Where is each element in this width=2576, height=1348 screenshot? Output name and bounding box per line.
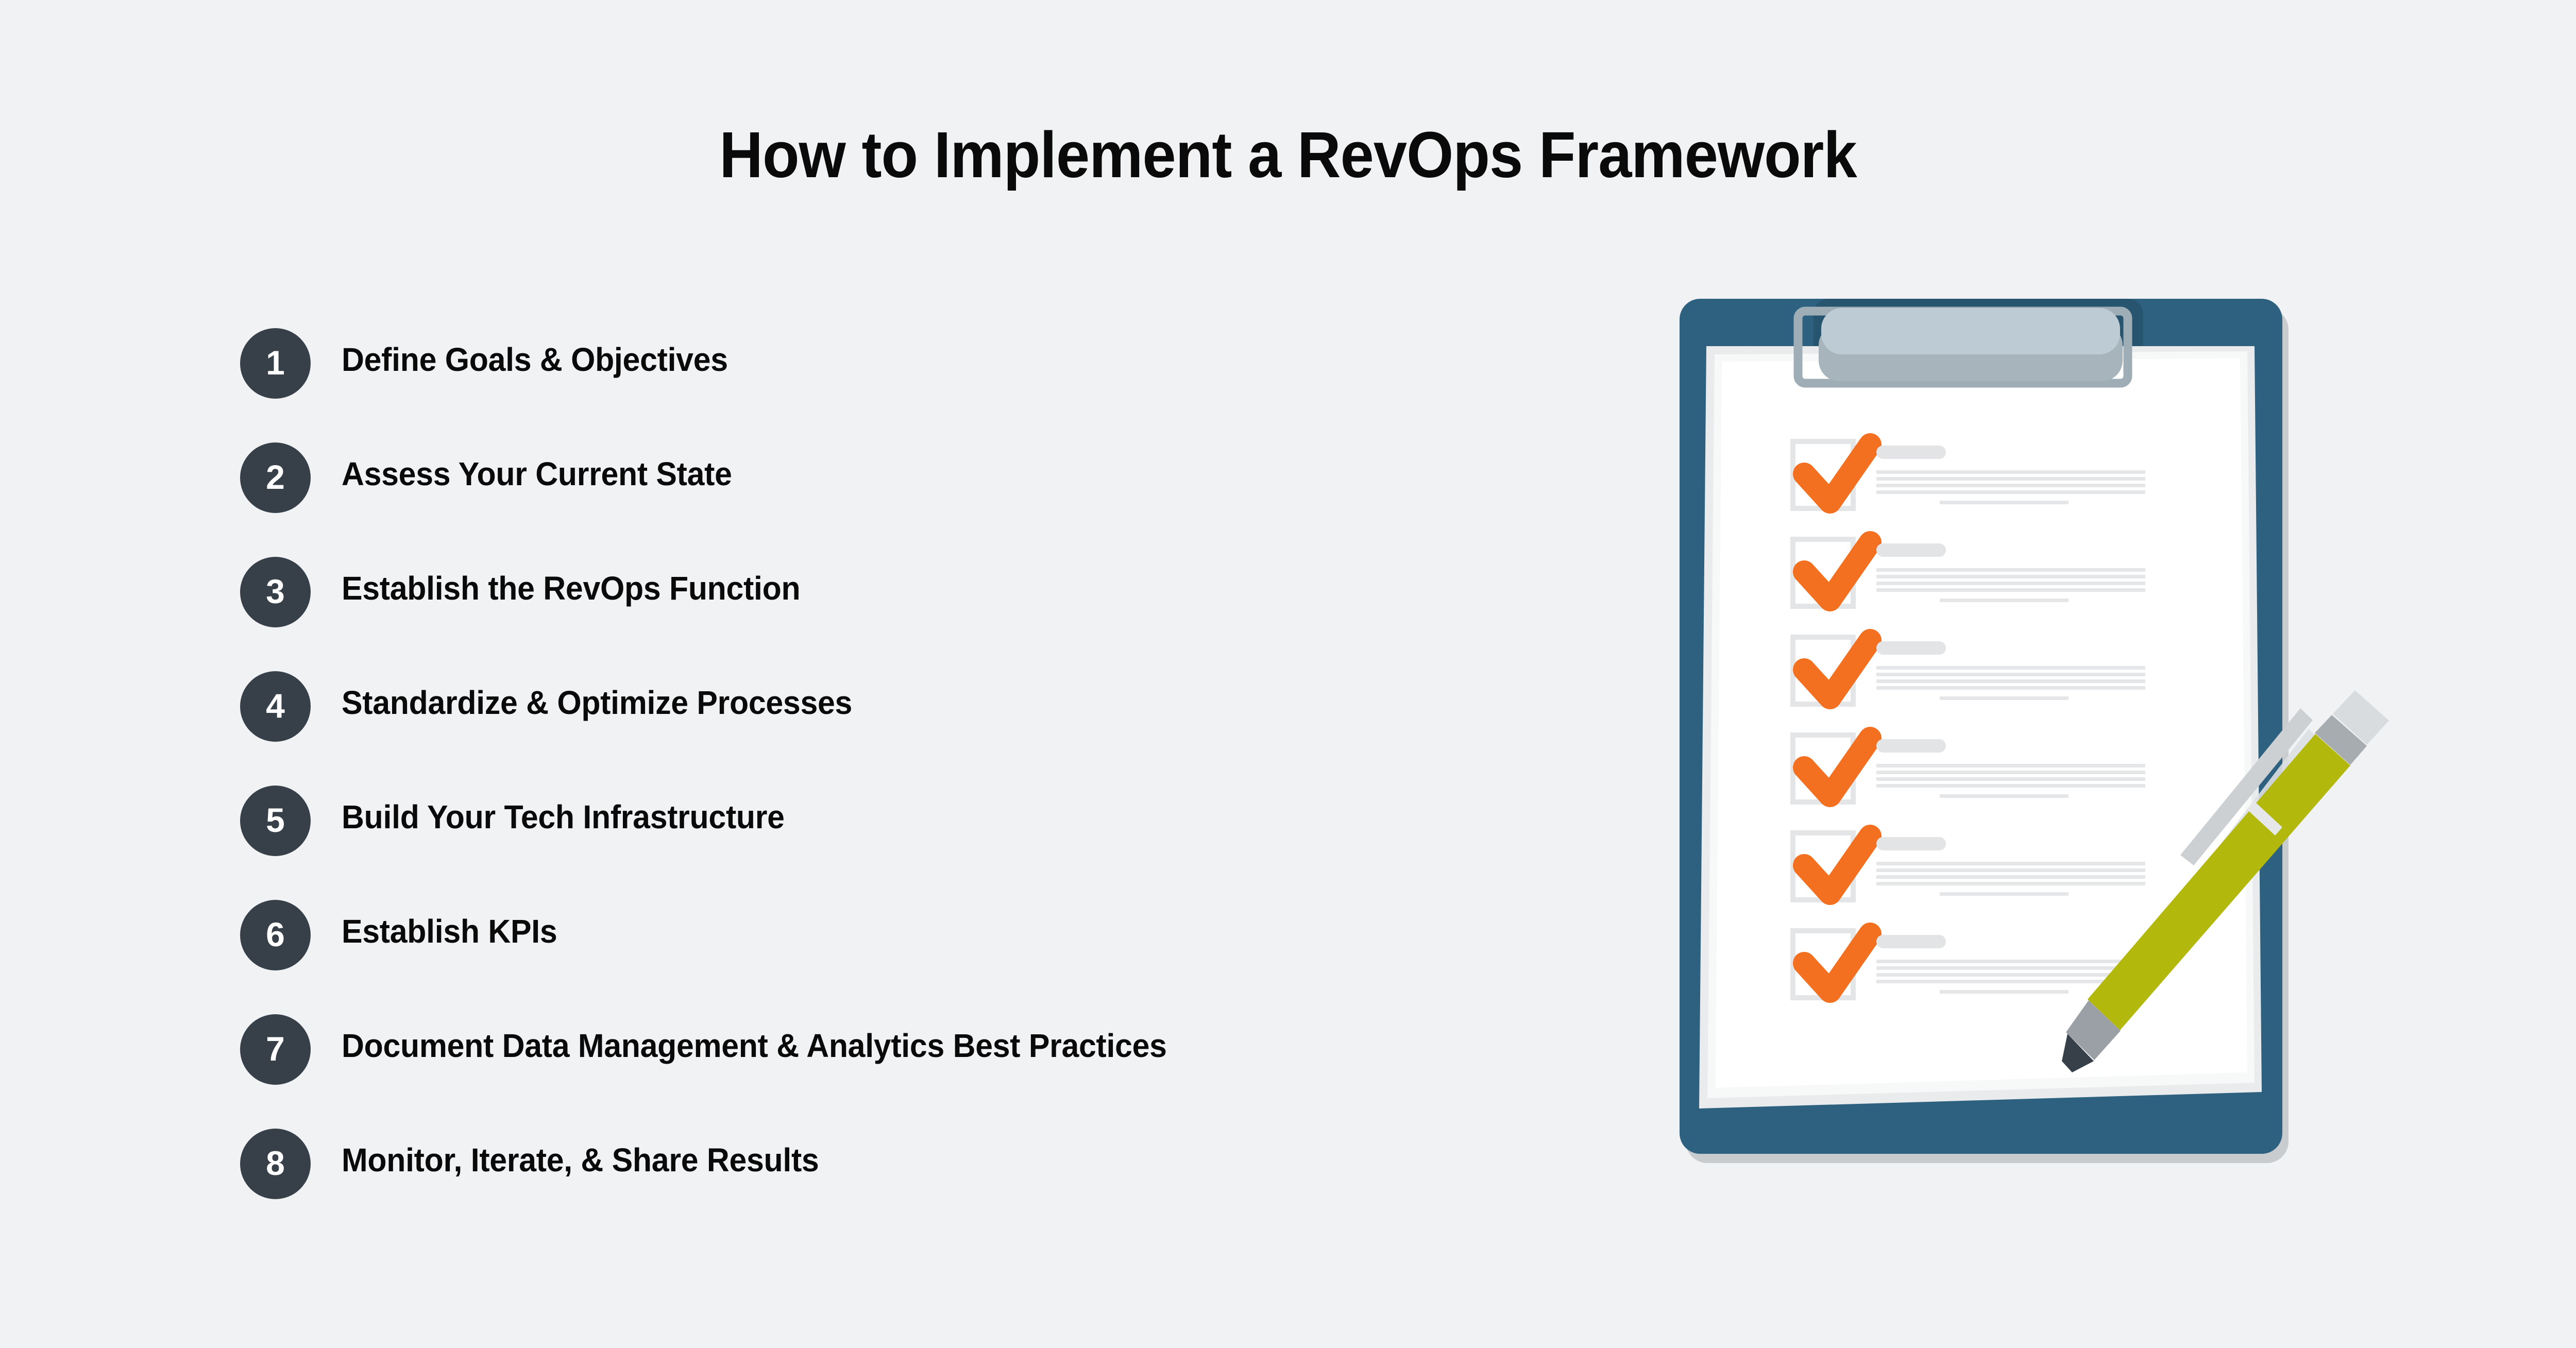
row-text-line-short	[1940, 892, 2069, 896]
row-text-line	[1876, 764, 2145, 767]
row-text-line	[1876, 882, 2145, 885]
row-text-line	[1876, 784, 2145, 788]
step-label: Define Goals & Objectives	[342, 340, 728, 379]
row-text-line	[1876, 960, 2145, 963]
list-item: 2 Assess Your Current State	[240, 442, 1580, 557]
row-text-line	[1876, 575, 2145, 578]
row-text-line	[1876, 470, 2145, 474]
row-text-line	[1876, 973, 2145, 977]
row-text-line	[1876, 686, 2145, 690]
row-title-pill	[1876, 446, 1946, 459]
step-number-badge: 2	[240, 442, 311, 513]
row-text-line	[1876, 966, 2145, 970]
clip-pad-top	[1821, 308, 2120, 354]
row-text-line	[1876, 490, 2145, 494]
row-text-line-short	[1940, 794, 2069, 798]
row-text-line	[1876, 771, 2145, 774]
step-label: Document Data Management & Analytics Bes…	[342, 1027, 1167, 1065]
row-text-line	[1876, 868, 2145, 872]
page-title: How to Implement a RevOps Framework	[90, 117, 2486, 192]
row-text-line-short	[1940, 501, 2069, 504]
step-label: Establish the RevOps Function	[342, 569, 800, 607]
step-label: Establish KPIs	[342, 912, 557, 950]
list-item: 6 Establish KPIs	[240, 900, 1580, 1014]
step-number-badge: 8	[240, 1129, 311, 1199]
list-item: 5 Build Your Tech Infrastructure	[240, 786, 1580, 900]
row-title-pill	[1876, 641, 1946, 655]
row-text-line	[1876, 875, 2145, 879]
row-text-line	[1876, 477, 2145, 481]
row-text-line	[1876, 777, 2145, 781]
step-label: Build Your Tech Infrastructure	[342, 798, 785, 836]
step-label: Monitor, Iterate, & Share Results	[342, 1141, 819, 1179]
row-text-line	[1876, 679, 2145, 683]
row-text-line	[1876, 862, 2145, 865]
row-text-line-short	[1940, 599, 2069, 602]
row-text-line	[1876, 484, 2145, 487]
row-text-line	[1876, 582, 2145, 585]
step-number-badge: 3	[240, 557, 311, 627]
step-label: Standardize & Optimize Processes	[342, 684, 852, 722]
row-text-line-short	[1940, 990, 2069, 994]
row-title-pill	[1876, 837, 1946, 850]
step-label: Assess Your Current State	[342, 455, 732, 493]
row-text-line	[1876, 568, 2145, 572]
row-text-line	[1876, 588, 2145, 592]
list-item: 8 Monitor, Iterate, & Share Results	[240, 1129, 1580, 1243]
row-text-line	[1876, 673, 2145, 676]
list-item: 1 Define Goals & Objectives	[240, 328, 1580, 442]
step-number-badge: 1	[240, 328, 311, 399]
step-number-badge: 6	[240, 900, 311, 970]
row-text-line-short	[1940, 696, 2069, 700]
row-title-pill	[1876, 935, 1946, 948]
steps-list: 1 Define Goals & Objectives 2 Assess You…	[240, 328, 1580, 1243]
step-number-badge: 4	[240, 671, 311, 742]
list-item: 4 Standardize & Optimize Processes	[240, 671, 1580, 786]
list-item: 7 Document Data Management & Analytics B…	[240, 1014, 1580, 1129]
step-number-badge: 7	[240, 1014, 311, 1085]
list-item: 3 Establish the RevOps Function	[240, 557, 1580, 671]
step-number-badge: 5	[240, 786, 311, 856]
row-text-line	[1876, 666, 2145, 670]
row-title-pill	[1876, 739, 1946, 753]
clipboard-illustration	[1643, 268, 2447, 1195]
row-title-pill	[1876, 543, 1946, 557]
